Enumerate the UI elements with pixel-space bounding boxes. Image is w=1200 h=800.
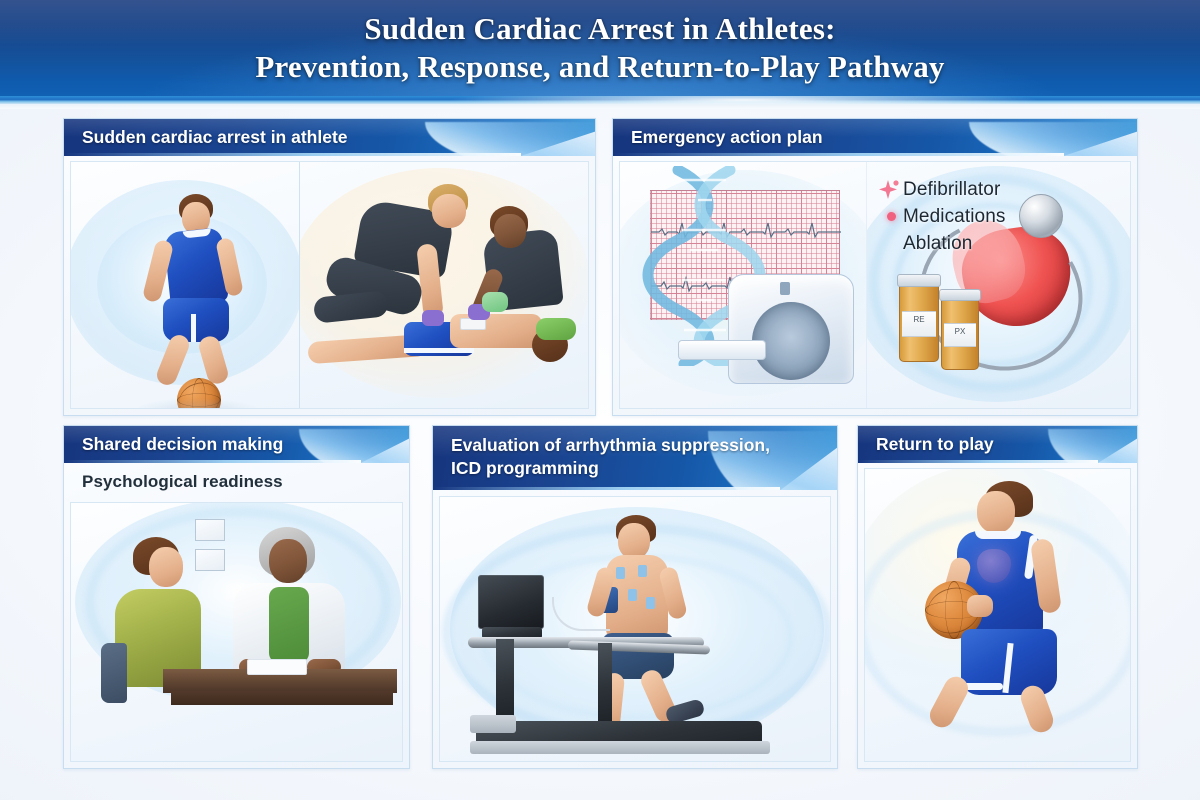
- pill-bottle-two: PX: [941, 298, 979, 370]
- athlete-jersey: [163, 227, 228, 307]
- page-title-line-1: Sudden Cardiac Arrest in Athletes:: [0, 10, 1200, 48]
- ecg-electrode-4: [646, 597, 655, 609]
- treadmill-upright-left: [496, 639, 514, 723]
- panel-shared-decision-making[interactable]: Shared decision making Psychological rea…: [63, 425, 410, 769]
- header-underglow: [433, 487, 780, 490]
- treadmill-motor-cover: [470, 715, 516, 733]
- panel-title-arrhythmia-evaluation: Evaluation of arrhythmia suppression, IC…: [451, 434, 791, 480]
- bottle-label-one: RE: [902, 311, 935, 337]
- panel-return-to-play[interactable]: Return to play: [857, 425, 1138, 769]
- desk-front-panel: [171, 691, 393, 705]
- list-item[interactable]: Ablation: [875, 230, 1075, 257]
- jersey-neck-trim: [975, 531, 1021, 539]
- panel-body-arrhythmia-evaluation: [439, 496, 831, 762]
- header-accent-strip: [0, 96, 1200, 104]
- clinician-scrub-top: [269, 587, 309, 663]
- player-hand: [967, 595, 993, 617]
- panel-body-sudden-cardiac-arrest: [70, 161, 589, 409]
- panel-title-sudden-cardiac-arrest: Sudden cardiac arrest in athlete: [82, 126, 525, 149]
- panel-sudden-cardiac-arrest[interactable]: Sudden cardiac arrest in athlete: [63, 118, 596, 416]
- victim-shorts-trim: [404, 348, 474, 353]
- treatment-options-list: Defibrillator Medications Ablation: [875, 176, 1075, 257]
- mri-control-light: [780, 282, 790, 295]
- list-item-label: Ablation: [903, 230, 972, 257]
- list-item-label: Medications: [903, 203, 1005, 230]
- panel-emergency-action-plan[interactable]: Emergency action plan: [612, 118, 1138, 416]
- page-title-line-2: Prevention, Response, and Return-to-Play…: [0, 48, 1200, 86]
- treatment-options-scene: RE PX Defibrillator: [867, 162, 1130, 408]
- panel-title-shared-decision-making: Shared decision making: [82, 433, 339, 456]
- responder-two-head: [494, 214, 526, 248]
- wall-frame-upper: [195, 519, 225, 541]
- treadmill-console-screen: [478, 575, 544, 629]
- clinician-head: [269, 539, 307, 583]
- treadmill-deck-rail-left: [470, 741, 770, 754]
- header-underglow: [64, 460, 361, 463]
- bullet-dot-icon: [887, 212, 896, 221]
- header-underglow: [613, 153, 1064, 156]
- ecg-electrode-1: [616, 567, 625, 579]
- panel-subtitle-psychological-readiness: Psychological readiness: [82, 472, 283, 492]
- cpr-resuscitation-scene: [300, 162, 588, 408]
- ecg-electrode-2: [638, 565, 647, 577]
- bag-valve-mask: [482, 292, 508, 312]
- list-item[interactable]: Medications: [875, 203, 1075, 230]
- list-item-label: Defibrillator: [903, 176, 1000, 203]
- bottle-cap: [897, 274, 941, 288]
- treadmill-upright-right: [598, 643, 612, 725]
- shorts-trim: [191, 314, 196, 342]
- basketball-return-scene: [865, 469, 1130, 761]
- header-underglow: [64, 153, 521, 156]
- ecg-dna-mri-scene: [620, 162, 866, 408]
- responder-one-glove: [422, 310, 444, 326]
- panel-title-emergency-action-plan: Emergency action plan: [631, 126, 1067, 149]
- page-header: Sudden Cardiac Arrest in Athletes: Preve…: [0, 0, 1200, 96]
- sparkle-icon: [877, 178, 901, 202]
- bottle-label-two: PX: [944, 323, 976, 347]
- clinician-patient-consultation-scene: [71, 503, 402, 761]
- floor-shadow: [133, 398, 261, 408]
- collapsing-athlete-scene: [71, 162, 299, 408]
- panel-body-shared-decision-making: [70, 502, 403, 762]
- responder-one-head: [432, 194, 466, 228]
- panel-arrhythmia-evaluation[interactable]: Evaluation of arrhythmia suppression, IC…: [432, 425, 838, 769]
- panel-body-emergency-action-plan: RE PX Defibrillator: [619, 161, 1131, 409]
- list-item[interactable]: Defibrillator: [875, 176, 1075, 203]
- wall-frame-lower: [195, 549, 225, 571]
- shorts-hem-trim: [963, 683, 1003, 690]
- patient-head: [149, 547, 183, 587]
- runner-head: [618, 523, 650, 559]
- header-underglow: [858, 460, 1098, 463]
- player-head: [977, 491, 1015, 533]
- panel-title-return-to-play: Return to play: [876, 433, 1067, 456]
- chair-back: [101, 643, 127, 703]
- treadmill-stress-test-scene: [440, 497, 830, 761]
- mri-patient-bed: [678, 340, 766, 360]
- panel-body-return-to-play: [864, 468, 1131, 762]
- pill-bottle-one: RE: [899, 284, 939, 362]
- page-title: Sudden Cardiac Arrest in Athletes: Preve…: [0, 10, 1200, 86]
- ecg-electrode-3: [628, 589, 637, 601]
- responder-two-kneepad: [536, 318, 576, 340]
- infographic-canvas: Sudden cardiac arrest in athlete: [0, 109, 1200, 800]
- bottle-cap: [939, 289, 981, 302]
- desk-paperwork: [247, 659, 307, 675]
